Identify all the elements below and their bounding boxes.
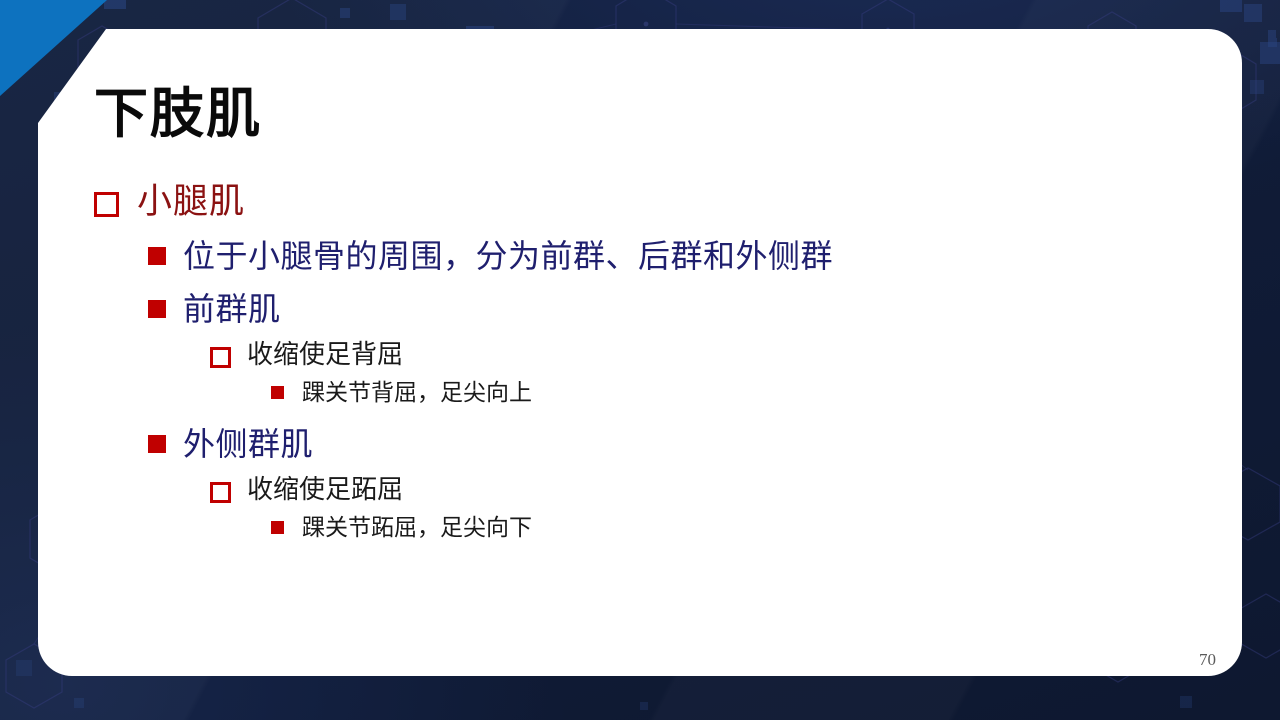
list-item-level2: 外侧群肌 <box>148 422 1202 466</box>
list-item-label: 位于小腿骨的周围，分为前群、后群和外侧群 <box>183 234 833 278</box>
solid-square-bullet-icon <box>271 386 284 399</box>
solid-square-bullet-icon <box>271 521 284 534</box>
list-item-level3: 收缩使足背屈 <box>210 338 1202 372</box>
page-number: 70 <box>1199 650 1216 670</box>
hollow-square-bullet-icon <box>94 192 119 217</box>
hollow-square-bullet-icon <box>210 482 231 503</box>
list-item-label: 前群肌 <box>183 287 281 331</box>
list-item-level1: 小腿肌 <box>94 179 1202 225</box>
slide-content-card: 下肢肌 小腿肌 位于小腿骨的周围，分为前群、后群和外侧群 前群肌 <box>38 29 1242 676</box>
list-item-label: 踝关节背屈，足尖向上 <box>302 378 532 408</box>
slide-canvas: 下肢肌 小腿肌 位于小腿骨的周围，分为前群、后群和外侧群 前群肌 <box>0 0 1280 720</box>
page-title: 下肢肌 <box>94 87 262 141</box>
list-item-label: 收缩使足跖屈 <box>247 473 403 507</box>
list-item-level3: 收缩使足跖屈 <box>210 473 1202 507</box>
list-item-label: 外侧群肌 <box>183 422 313 466</box>
solid-square-bullet-icon <box>148 300 166 318</box>
list-item-level2: 前群肌 <box>148 287 1202 331</box>
solid-square-bullet-icon <box>148 247 166 265</box>
bullet-list: 小腿肌 位于小腿骨的周围，分为前群、后群和外侧群 前群肌 收缩使足背屈 <box>94 179 1202 543</box>
solid-square-bullet-icon <box>148 435 166 453</box>
list-item-level4: 踝关节跖屈，足尖向下 <box>271 513 1202 543</box>
hollow-square-bullet-icon <box>210 347 231 368</box>
list-item-level4: 踝关节背屈，足尖向上 <box>271 378 1202 408</box>
list-item-label: 收缩使足背屈 <box>247 338 403 372</box>
list-item-label: 小腿肌 <box>137 179 245 225</box>
list-item-label: 踝关节跖屈，足尖向下 <box>302 513 532 543</box>
list-item-level2: 位于小腿骨的周围，分为前群、后群和外侧群 <box>148 234 1202 278</box>
